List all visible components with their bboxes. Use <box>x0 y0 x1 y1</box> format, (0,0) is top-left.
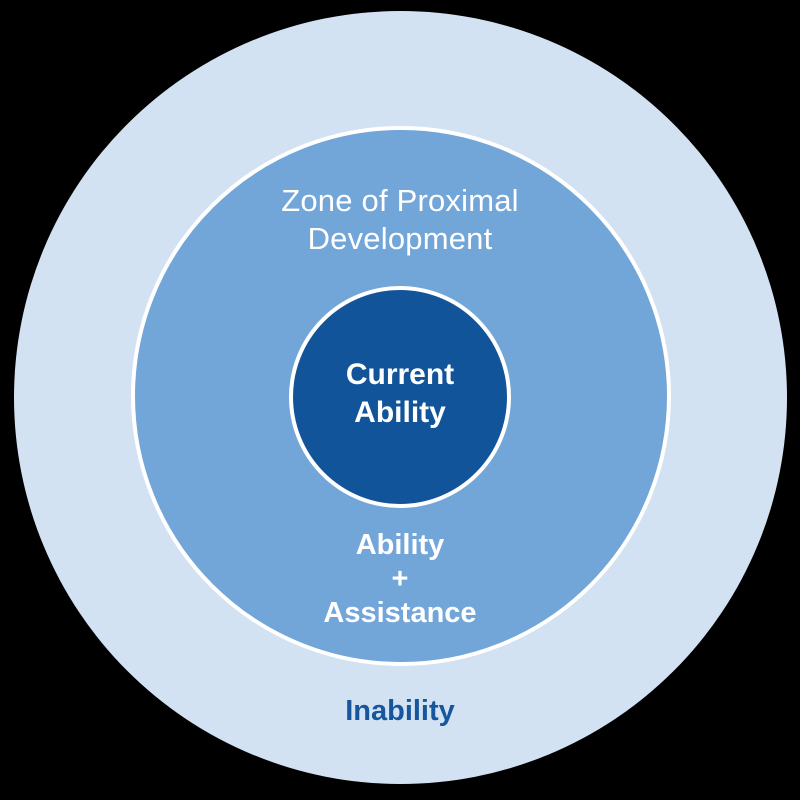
label-inability: Inability <box>250 694 550 729</box>
label-ability-plus-assistance: Ability + Assistance <box>200 528 600 631</box>
label-current-ability: Current Ability <box>290 356 510 433</box>
label-zone-of-proximal-development: Zone of Proximal Development <box>150 182 650 258</box>
diagram-canvas: Zone of Proximal Development Current Abi… <box>0 0 800 800</box>
